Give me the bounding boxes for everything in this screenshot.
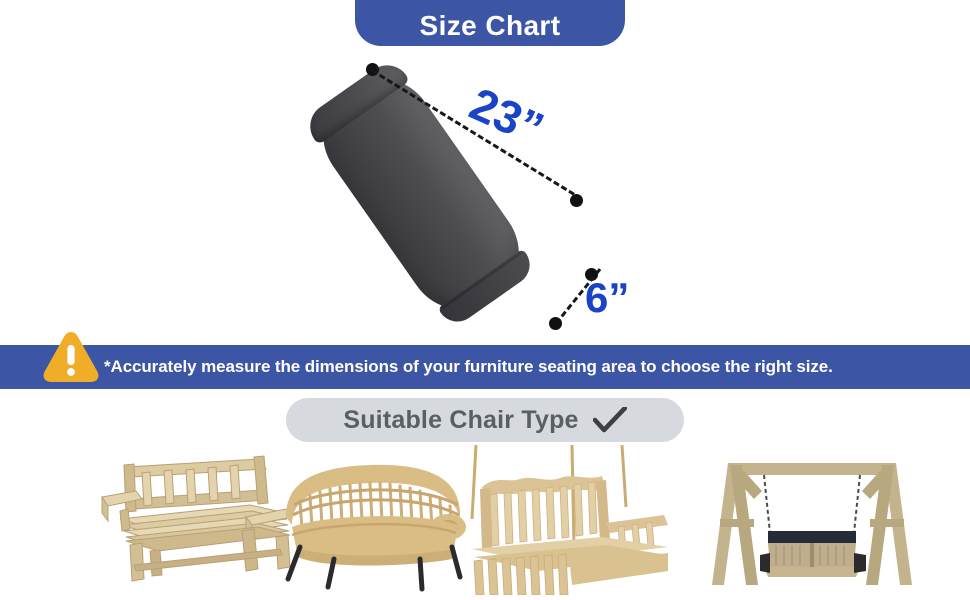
bolster-pillow-end-cap-right xyxy=(437,249,537,330)
dimension-endpoint-dot-diameter-end xyxy=(549,317,562,330)
furniture-item-wooden-porch-swing xyxy=(450,445,670,595)
dimension-endpoint-dot-length-end xyxy=(570,194,583,207)
page-title: Size Chart xyxy=(420,12,561,40)
bolster-pillow-end-cap-left xyxy=(301,56,410,145)
furniture-item-a-frame-swing-stand xyxy=(700,445,920,595)
size-chart-infographic: Size Chart 23” 6” *Accurately measure th… xyxy=(0,0,970,600)
size-chart-header-pill: Size Chart xyxy=(355,0,625,46)
check-icon xyxy=(593,407,627,433)
warning-triangle-icon xyxy=(42,330,100,384)
suitable-chair-type-list xyxy=(0,445,970,595)
dimension-label-diameter: 6” xyxy=(585,277,629,319)
furniture-item-rattan-wicker-sofa xyxy=(262,445,482,595)
warning-text: *Accurately measure the dimensions of yo… xyxy=(104,357,833,377)
suitable-chair-type-label: Suitable Chair Type xyxy=(343,406,578,435)
warning-banner: *Accurately measure the dimensions of yo… xyxy=(0,345,970,389)
suitable-chair-type-pill: Suitable Chair Type xyxy=(286,398,684,442)
